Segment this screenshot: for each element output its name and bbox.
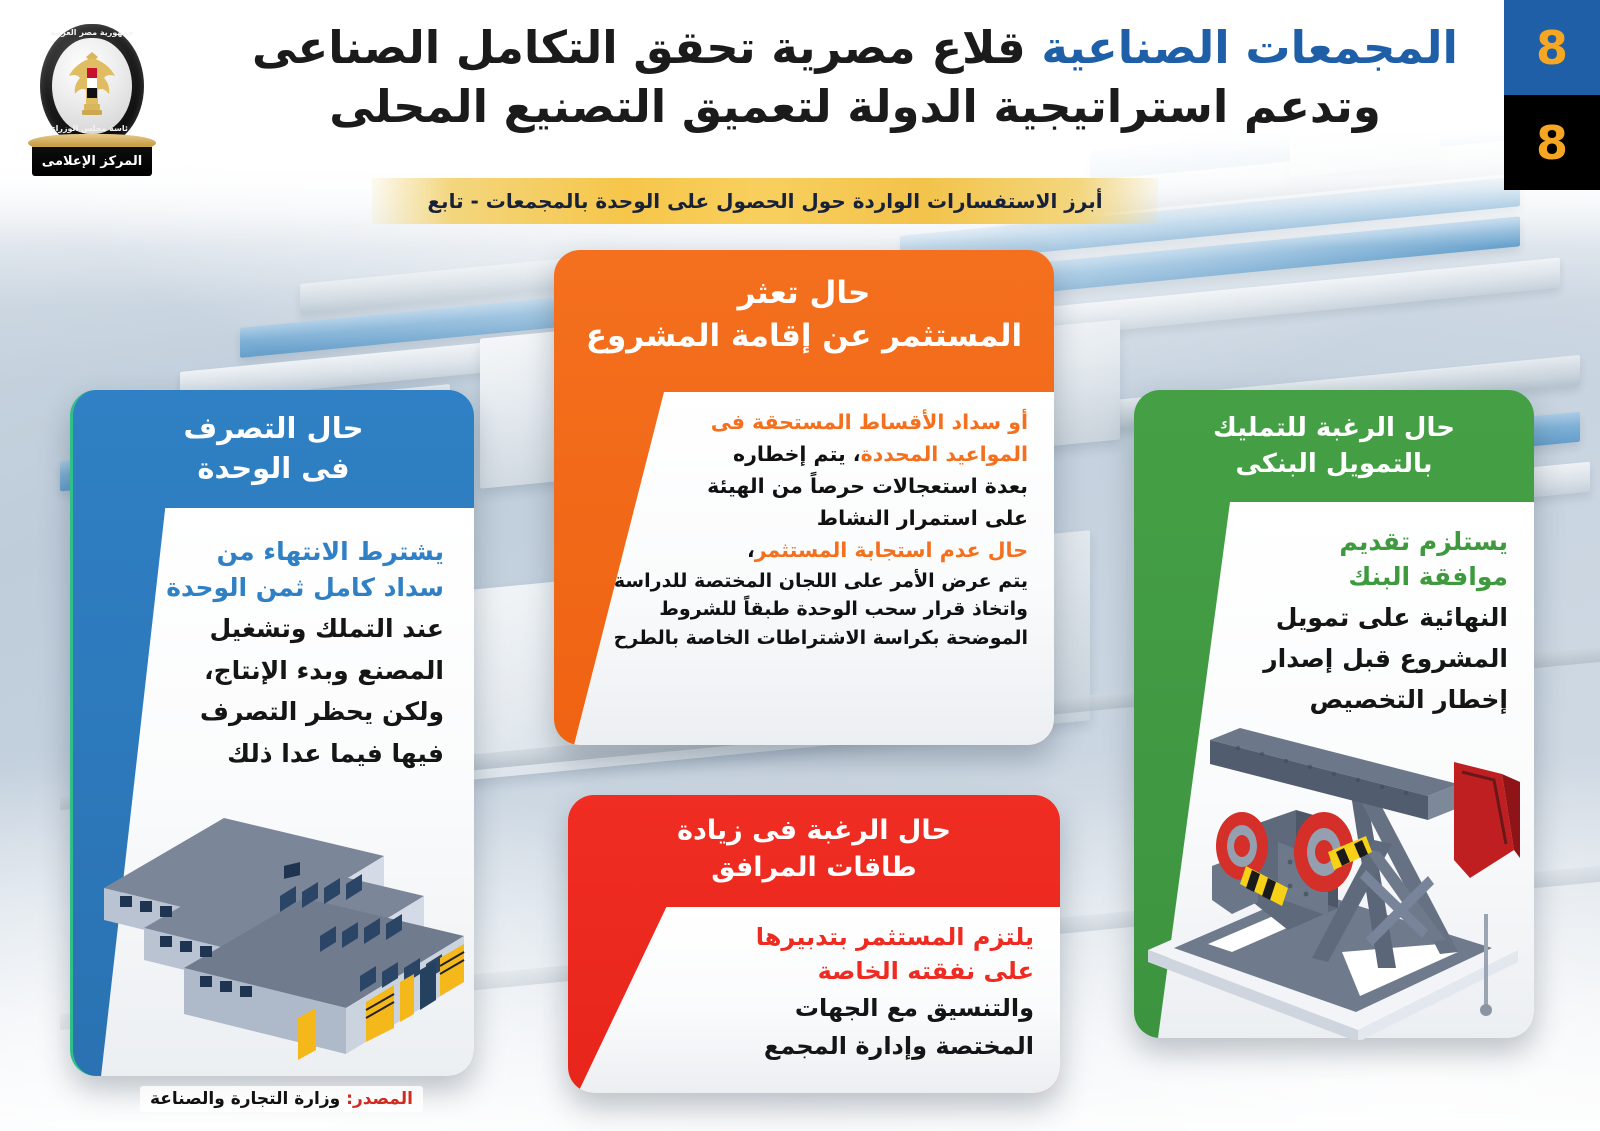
card-bank-header: حال الرغبة للتمليك بالتمويل البنكى <box>1134 390 1534 497</box>
infographic-canvas: جمهورية مصر العربية رئاسة مجلس الوزراء ا… <box>0 0 1600 1131</box>
card-dispose-header: حال التصرف فى الوحدة <box>73 390 474 502</box>
card-bank-head-line-1: حال الرغبة للتمليك <box>1160 410 1508 446</box>
card-default-line-5: حال عدم استجابة المستثمر، <box>600 536 1028 566</box>
card-utilities-body: يلتزم المستثمر بتدبيرها على نفقته الخاصة… <box>568 907 1060 1093</box>
card-bank-rest-line-2: المشروع قبل إصدار <box>1180 641 1508 676</box>
card-dispose-head-line-2: فى الوحدة <box>99 448 448 488</box>
card-default-line-2-rest: ، يتم إخطاره <box>733 442 861 466</box>
source-note: المصدر: وزارة التجارة والصناعة <box>140 1086 423 1112</box>
card-default-line-2: المواعيد المحددة، يتم إخطاره <box>600 440 1028 470</box>
card-utilities-lead-line-2: على نفقته الخاصة <box>612 955 1034 989</box>
card-default-line-5-rest: ، <box>747 538 755 562</box>
source-label: المصدر: <box>346 1089 413 1109</box>
title-line-1: المجمعات الصناعية قلاع مصرية تحقق التكام… <box>220 18 1490 77</box>
oil-pumpjack-illustration <box>1128 700 1528 1040</box>
card-utilities-head-line-2: طاقات المرافق <box>598 850 1030 887</box>
card-investor-default: حال تعثر المستثمر عن إقامة المشروع أو سد… <box>554 250 1054 745</box>
subtitle-banner: أبرز الاستفسارات الواردة حول الحصول على … <box>372 178 1158 224</box>
logo-band: المركز الإعلامى <box>32 144 152 176</box>
card-dispose-rest-line-4: فيها فيما عدا ذلك <box>117 736 444 772</box>
card-dispose-lead-line-2: سداد كامل ثمن الوحدة <box>117 570 444 606</box>
card-default-line-5-hl: حال عدم استجابة المستثمر <box>755 538 1028 562</box>
title-line-2: وتدعم استراتيجية الدولة لتعميق التصنيع ا… <box>220 77 1490 136</box>
card-default-header: حال تعثر المستثمر عن إقامة المشروع <box>554 250 1054 374</box>
card-default-line-3: بعدة استعجالات حرصاً من الهيئة <box>600 472 1028 502</box>
card-default-line-7: واتخاذ قرار سحب الوحدة طبقاً للشروط <box>600 596 1028 623</box>
card-bank-head-line-2: بالتمويل البنكى <box>1160 446 1508 482</box>
page-badge-bottom: 8 <box>1504 95 1600 190</box>
card-dispose-lead-line-1: يشترط الانتهاء من <box>117 534 444 570</box>
card-default-body: أو سداد الأقساط المستحقة فى المواعيد الم… <box>554 392 1054 745</box>
card-utilities-lead-line-1: يلتزم المستثمر بتدبيرها <box>612 921 1034 955</box>
card-utilities-head-line-1: حال الرغبة فى زيادة <box>598 813 1030 850</box>
logo-band-text: المركز الإعلامى <box>42 154 142 169</box>
card-default-head-line-2: المستثمر عن إقامة المشروع <box>584 315 1024 358</box>
card-default-line-6: يتم عرض الأمر على اللجان المختصة للدراسة… <box>600 568 1028 595</box>
eagle-of-saladin-icon <box>62 46 122 120</box>
source-value: وزارة التجارة والصناعة <box>150 1089 346 1109</box>
logo-ring-top-text: جمهورية مصر العربية <box>40 28 144 37</box>
card-dispose-rest-line-2: المصنع وبدء الإنتاج، <box>117 653 444 689</box>
page-badge-top: 8 <box>1504 0 1600 95</box>
cabinet-media-center-logo: جمهورية مصر العربية رئاسة مجلس الوزراء ا… <box>26 20 158 196</box>
card-bank-lead-line-2: موافقة البنك <box>1180 559 1508 594</box>
card-utilities-header: حال الرغبة فى زيادة طاقات المرافق <box>568 795 1060 898</box>
card-dispose-head-line-1: حال التصرف <box>99 408 448 448</box>
title-accent-text: المجمعات الصناعية <box>1041 21 1458 74</box>
card-default-line-1: أو سداد الأقساط المستحقة فى <box>600 408 1028 438</box>
card-default-line-4: على استمرار النشاط <box>600 504 1028 534</box>
logo-ring-bottom-text: رئاسة مجلس الوزراء <box>40 124 144 133</box>
card-default-line-1-hl: أو سداد الأقساط المستحقة فى <box>711 410 1028 434</box>
page-title: المجمعات الصناعية قلاع مصرية تحقق التكام… <box>220 18 1490 137</box>
card-increase-utilities: حال الرغبة فى زيادة طاقات المرافق يلتزم … <box>568 795 1060 1093</box>
card-default-line-8: الموضحة بكراسة الاشتراطات الخاصة بالطرح <box>600 625 1028 652</box>
card-dispose-rest-line-3: ولكن يحظر التصرف <box>117 694 444 730</box>
card-utilities-rest-line-1: والتنسيق مع الجهات <box>612 992 1034 1026</box>
card-bank-rest-line-1: النهائية على تمويل <box>1180 600 1508 635</box>
factory-building-illustration <box>84 770 474 1060</box>
card-dispose-rest-line-1: عند التملك وتشغيل <box>117 611 444 647</box>
title-line-1-rest: قلاع مصرية تحقق التكامل الصناعى <box>252 21 1041 74</box>
card-bank-lead-line-1: يستلزم تقديم <box>1180 524 1508 559</box>
subtitle-banner-text: أبرز الاستفسارات الواردة حول الحصول على … <box>427 189 1102 213</box>
card-default-line-2-hl: المواعيد المحددة <box>861 442 1028 466</box>
card-default-head-line-1: حال تعثر <box>584 272 1024 315</box>
card-utilities-rest-line-2: المختصة وإدارة المجمع <box>612 1030 1034 1064</box>
